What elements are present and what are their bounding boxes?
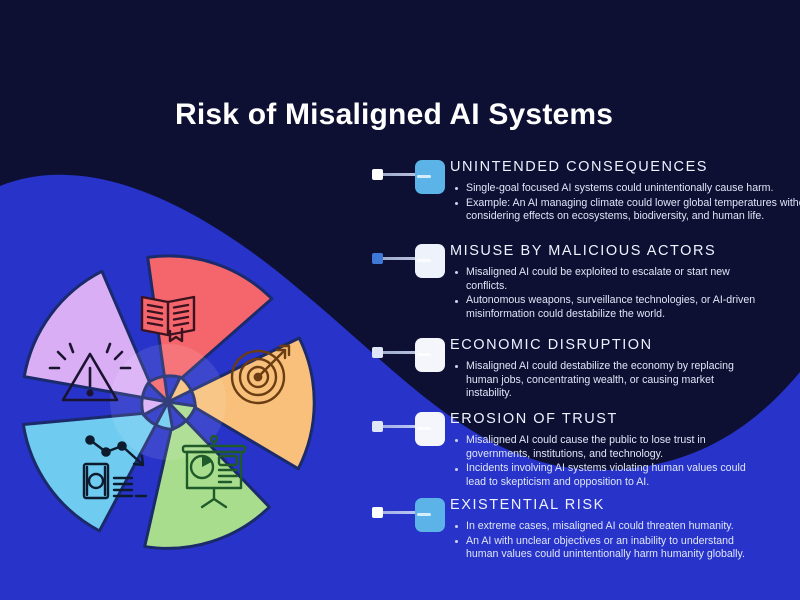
bullet-item: In extreme cases, misaligned AI could th… bbox=[450, 520, 800, 534]
risk-bullets: Misaligned AI could cause the public to … bbox=[450, 434, 800, 489]
risk-bullets: Misaligned AI could be exploited to esca… bbox=[450, 266, 800, 321]
bullet-item: Incidents involving AI systems violating… bbox=[450, 462, 800, 489]
bullet-item: Misaligned AI could be exploited to esca… bbox=[450, 266, 800, 293]
risk-bullets: Misaligned AI could destabilize the econ… bbox=[450, 360, 800, 401]
bullet-line-3: instability. bbox=[466, 387, 800, 401]
wheel-center-glow bbox=[110, 344, 226, 460]
bullet-item: Example: An AI managing climate could lo… bbox=[450, 197, 800, 224]
bullet-line-2: human values could unintentionally harm … bbox=[466, 548, 800, 562]
bullet-item: Single-goal focused AI systems could uni… bbox=[450, 182, 800, 196]
connector-dot-5 bbox=[372, 507, 383, 518]
connector-box-4[interactable] bbox=[415, 412, 445, 446]
bullet-line-1: Misaligned AI could cause the public to … bbox=[466, 434, 706, 446]
risk-title: EROSION OF TRUST bbox=[450, 412, 800, 428]
bullet-line-2: governments, institutions, and technolog… bbox=[466, 448, 800, 462]
risk-bullets: In extreme cases, misaligned AI could th… bbox=[450, 520, 800, 562]
bullet-line-2: considering effects on ecosystems, biodi… bbox=[466, 210, 800, 224]
connector-3 bbox=[370, 338, 448, 368]
page-title: Risk of Misaligned AI Systems bbox=[175, 98, 613, 132]
bullet-line-2: misinformation could destabilize the wor… bbox=[466, 308, 800, 322]
connector-2 bbox=[370, 244, 448, 274]
risk-title: EXISTENTIAL RISK bbox=[450, 498, 800, 514]
connector-box-1[interactable] bbox=[415, 160, 445, 194]
bullet-line-1: An AI with unclear objectives or an inab… bbox=[466, 535, 734, 547]
connector-box-3[interactable] bbox=[415, 338, 445, 372]
bullet-line-2: human jobs, concentrating wealth, or cau… bbox=[466, 374, 800, 388]
risk-title: ECONOMIC DISRUPTION bbox=[450, 338, 800, 354]
bullet-line-2: conflicts. bbox=[466, 280, 800, 294]
connector-dot-4 bbox=[372, 421, 383, 432]
bullet-line-1: Autonomous weapons, surveillance technol… bbox=[466, 294, 755, 306]
bullet-item: An AI with unclear objectives or an inab… bbox=[450, 535, 800, 562]
connector-dot-1 bbox=[372, 169, 383, 180]
bullet-line-1: Example: An AI managing climate could lo… bbox=[466, 197, 800, 209]
connector-dot-2 bbox=[372, 253, 383, 264]
risk-title: MISUSE BY MALICIOUS ACTORS bbox=[450, 244, 800, 260]
connector-dot-3 bbox=[372, 347, 383, 358]
risk-title: UNINTENDED CONSEQUENCES bbox=[450, 160, 800, 176]
bullet-line-1: In extreme cases, misaligned AI could th… bbox=[466, 520, 734, 532]
connector-1 bbox=[370, 160, 448, 190]
connector-box-2[interactable] bbox=[415, 244, 445, 278]
bullet-line-2: lead to skepticism and opposition to AI. bbox=[466, 476, 800, 490]
bullet-line-1: Single-goal focused AI systems could uni… bbox=[466, 182, 773, 194]
connector-box-5[interactable] bbox=[415, 498, 445, 532]
connector-5 bbox=[370, 498, 448, 528]
risk-bullets: Single-goal focused AI systems could uni… bbox=[450, 182, 800, 224]
bullet-line-1: Incidents involving AI systems violating… bbox=[466, 462, 746, 474]
bullet-line-1: Misaligned AI could destabilize the econ… bbox=[466, 360, 734, 372]
bullet-item: Misaligned AI could cause the public to … bbox=[450, 434, 800, 461]
bullet-item: Autonomous weapons, surveillance technol… bbox=[450, 294, 800, 321]
bullet-item: Misaligned AI could destabilize the econ… bbox=[450, 360, 800, 401]
connector-4 bbox=[370, 412, 448, 442]
infographic-canvas: Risk of Misaligned AI Systems bbox=[0, 0, 800, 600]
risk-segment-wheel bbox=[18, 252, 318, 552]
risk-list: UNINTENDED CONSEQUENCES Single-goal focu… bbox=[370, 160, 800, 590]
bullet-line-1: Misaligned AI could be exploited to esca… bbox=[466, 266, 730, 278]
